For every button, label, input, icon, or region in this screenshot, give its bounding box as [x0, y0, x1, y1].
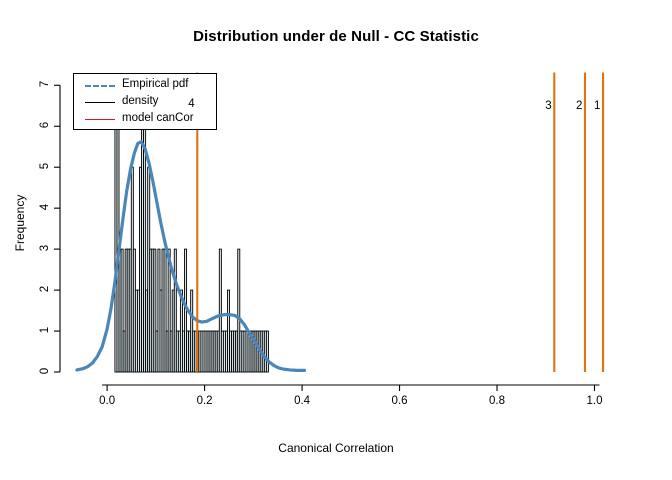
legend-entry-density: density [74, 95, 218, 111]
y-tick-label: 3 [39, 235, 51, 261]
chart-canvas: Distribution under de Null - CC Statisti… [0, 0, 672, 480]
x-tick-label: 0.0 [87, 395, 127, 407]
legend-entry-empirical-pdf: Empirical pdf [74, 78, 218, 94]
legend-swatch-model-cancor [85, 119, 115, 120]
reference-line-label: 2 [576, 100, 582, 112]
x-tick-label: 0.6 [380, 395, 420, 407]
reference-line-label: 1 [594, 100, 600, 112]
x-tick-label: 0.2 [185, 395, 225, 407]
x-axis-label: Canonical Correlation [0, 441, 672, 455]
y-tick-label: 0 [39, 358, 51, 384]
y-tick-label: 7 [39, 71, 51, 97]
legend-swatch-empirical-pdf [85, 85, 115, 87]
legend-entry-model-cancor: model canCor [74, 112, 218, 128]
y-tick-label: 2 [39, 276, 51, 302]
plot-area [0, 0, 672, 480]
legend-label-density: density [122, 95, 158, 107]
reference-line-label: 3 [545, 100, 551, 112]
y-tick-label: 1 [39, 317, 51, 343]
legend-label-empirical-pdf: Empirical pdf [122, 78, 188, 90]
histogram-bar [266, 331, 268, 372]
x-tick-label: 0.4 [282, 395, 322, 407]
legend-label-model-cancor: model canCor [122, 112, 194, 124]
y-tick-label: 5 [39, 153, 51, 179]
x-tick-label: 1.0 [575, 395, 615, 407]
x-tick-label: 0.8 [477, 395, 517, 407]
y-axis-label: Frequency [13, 163, 27, 283]
y-tick-label: 6 [39, 112, 51, 138]
reference-line-label: 4 [188, 98, 194, 110]
y-tick-label: 4 [39, 194, 51, 220]
chart-legend: Empirical pdf density model canCor [73, 73, 217, 130]
legend-swatch-density [85, 102, 115, 103]
